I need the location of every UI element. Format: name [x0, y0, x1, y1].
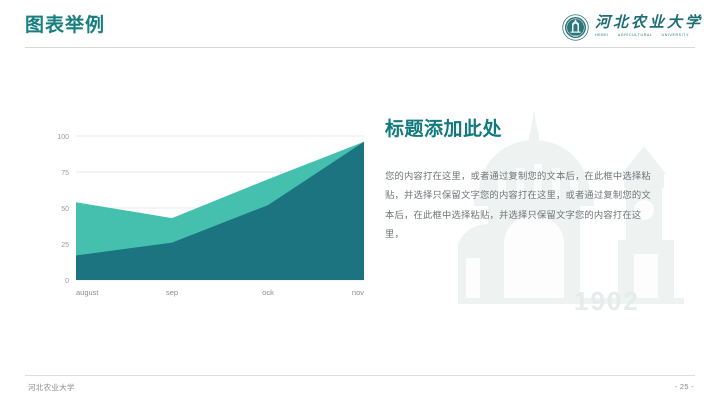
footer-divider [25, 375, 695, 376]
logo-en-word-1: HEBEI [595, 34, 609, 38]
logo-name-cn: 河北农业大学 [595, 16, 703, 31]
watermark-year: 1902 [574, 286, 640, 317]
title-divider [25, 47, 695, 48]
logo-en-word-3: UNIVERSITY [662, 34, 690, 38]
content-heading: 标题添加此处 [385, 120, 502, 141]
svg-text:1902: 1902 [573, 35, 579, 37]
university-logo: 1902 河北农业大学 HEBEI AGRICULTURAL UNIVERSIT… [562, 11, 703, 43]
footer-organization: 河北农业大学 [28, 382, 75, 393]
ytick-label-50: 50 [61, 206, 69, 213]
area-chart: 100 75 50 25 0 august sep ock nov [28, 112, 376, 300]
footer-page-number: - 25 - [675, 382, 694, 391]
logo-name-en: HEBEI AGRICULTURAL UNIVERSITY [595, 34, 703, 38]
ytick-label-0: 0 [65, 278, 69, 285]
university-seal-icon: 1902 [562, 14, 589, 41]
xtick-label-sep: sep [166, 288, 178, 297]
xtick-label-august: august [76, 288, 99, 297]
ytick-label-100: 100 [57, 134, 69, 141]
content-body-text: 您的内容打在这里，或者通过复制您的文本后，在此框中选择粘贴，并选择只保留文字您的… [385, 167, 653, 244]
logo-en-word-2: AGRICULTURAL [618, 34, 653, 38]
slide-canvas: 1902 图表举例 1902 河北农业大学 HEBEI AGRICULTURAL… [0, 0, 720, 405]
xtick-label-nov: nov [352, 288, 364, 297]
ytick-label-75: 75 [61, 170, 69, 177]
page-title: 图表举例 [25, 16, 105, 35]
ytick-label-25: 25 [61, 242, 69, 249]
xtick-label-ock: ock [262, 288, 274, 297]
